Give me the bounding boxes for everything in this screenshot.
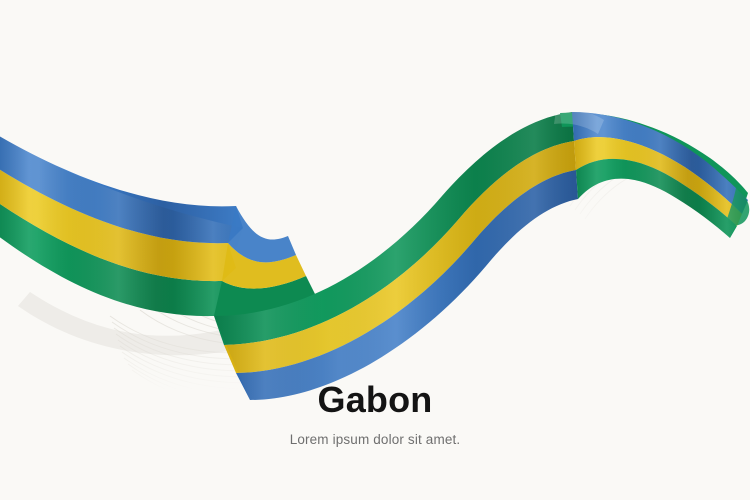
caption-block: Gabon Lorem ipsum dolor sit amet. [0,380,750,448]
ribbon-segment-left [0,133,243,316]
page-tagline: Lorem ipsum dolor sit amet. [0,420,750,448]
ribbon-shading-left [0,133,243,316]
flag-poster: Gabon Lorem ipsum dolor sit amet. [0,0,750,500]
ribbon-segment-right [560,112,749,238]
page-title: Gabon [0,380,750,420]
